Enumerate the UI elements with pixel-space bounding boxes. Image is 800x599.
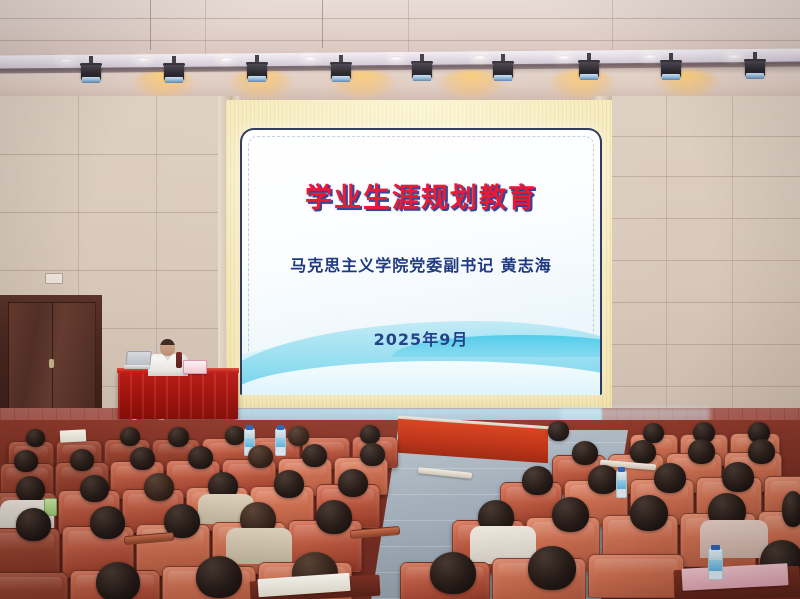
audience-head [96,562,140,599]
water-bottle [275,428,286,456]
audience-head [552,497,589,532]
audience-head [588,465,619,494]
ceiling-wire [322,0,323,48]
audience-head [196,556,242,598]
audience-head [90,506,125,539]
ceiling-wire [150,0,151,50]
audience-head [430,552,476,594]
seat[interactable] [588,554,684,598]
stage-spotlight [411,54,433,84]
stage-spotlight [80,56,102,86]
laptop-keyboard[interactable] [124,365,150,369]
stage-spotlight [578,53,600,83]
wall-switch-plate[interactable] [45,273,63,284]
audience-head [654,463,686,493]
stage-spotlight [744,52,766,82]
audience-head [288,426,309,446]
audience-head [528,546,576,590]
audience-head [16,508,51,541]
audience-head [316,500,352,534]
audience-shoulders [226,528,292,564]
audience-head [630,440,656,464]
side-door[interactable] [8,302,96,409]
audience-head [302,444,327,467]
audience-head [248,445,273,468]
audience-head [748,439,775,464]
table-cloth-folds [118,373,238,419]
ceiling-seam [0,40,800,41]
audience-head [630,495,668,531]
slide-date: 2025年9月 [242,326,600,350]
audience-head [130,447,155,470]
audience-head [26,429,45,447]
ceiling-seam [205,0,206,60]
slide-title: 学业生涯规划教育 [242,176,600,215]
audience-head [188,446,213,469]
projection-screen: 学业生涯规划教育 马克思主义学院党委副书记 黄志海 2025年9月 [240,128,602,395]
slide-subtitle: 马克思主义学院党委副书记 黄志海 [242,252,600,276]
downlight-icon [642,54,658,59]
audience-head [16,476,45,503]
audience-head [225,426,245,445]
downlight-icon [58,58,74,63]
audience-head [782,491,800,527]
audience-head [80,475,109,502]
right-wall [608,96,800,430]
downlight-icon [556,55,572,60]
water-bottle [616,470,627,498]
seat[interactable] [0,572,68,599]
downlight-icon [135,57,151,62]
audience-head [548,421,569,441]
stage-spotlight [330,55,352,85]
stage-spotlight [660,53,682,83]
downlight-icon [218,57,234,62]
open-paper [60,429,87,442]
audience-head [572,441,598,465]
auditorium-photo: 学业生涯规划教育 马克思主义学院党委副书记 黄志海 2025年9月 [0,0,800,599]
downlight-icon [472,55,488,60]
ceiling-seam [0,18,800,19]
downlight-icon [726,54,742,59]
audience-head [168,427,189,447]
audience-head [722,462,754,492]
audience-head [70,449,94,471]
audience-head [274,470,304,498]
audience-head [360,425,380,444]
audience-head [14,450,38,472]
audience-head [360,443,385,466]
downlight-icon [302,56,318,61]
audience-head [338,469,368,497]
stage-spotlight [246,55,268,85]
door-handle-icon[interactable] [49,359,54,368]
desk-nameplate [183,360,207,374]
stage-spotlight [492,54,514,84]
downlight-icon [388,56,404,61]
water-bottle [708,548,723,580]
audience-head [120,427,140,446]
audience-head [688,439,715,464]
stage-spotlight [163,56,185,86]
audience-head [522,466,553,495]
speaker-head [160,339,175,356]
audience-head [144,473,174,501]
desk-thermos [176,352,182,368]
